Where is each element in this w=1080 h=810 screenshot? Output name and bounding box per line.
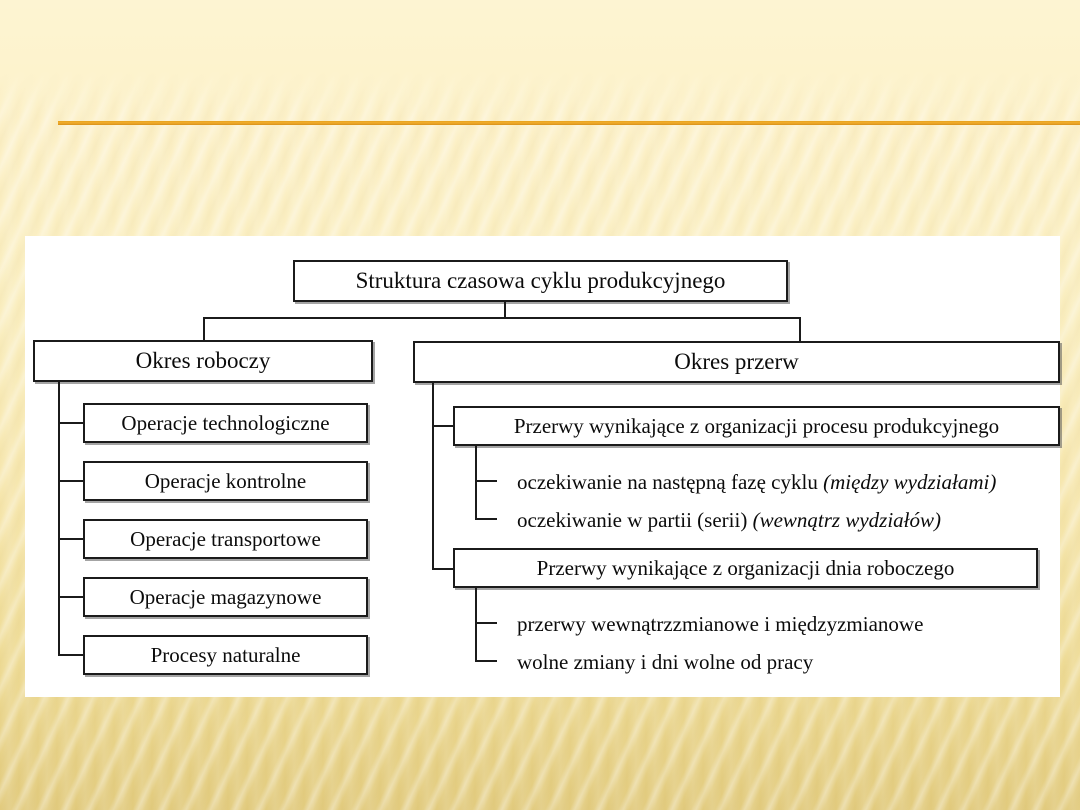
diagram-box-storage-operations: Operacje magazynowe (83, 577, 368, 617)
diagram-subitem-wait-in-batch: oczekiwanie w partii (serii) (wewnątrz w… (517, 510, 941, 531)
connector-level2-right-drop (799, 317, 801, 342)
diagram-box-storage-operations-label: Operacje magazynowe (130, 586, 322, 608)
connector-level2-bar (203, 317, 801, 319)
diagram-subitem-wait-next-phase: oczekiwanie na następną fazę cyklu (międ… (517, 472, 996, 493)
diagram-image-panel: Struktura czasowa cyklu produkcyjnego Ok… (25, 236, 1060, 697)
diagram-box-work-period-label: Okres roboczy (136, 349, 271, 373)
connector-work-stub-3 (58, 538, 85, 540)
diagram-subitem-intershift-breaks-text: przerwy wewnątrzzmianowe i międzyzmianow… (517, 612, 923, 636)
diagram-box-natural-processes: Procesy naturalne (83, 635, 368, 675)
diagram-box-work-period: Okres roboczy (33, 340, 373, 382)
diagram-subitem-wait-in-batch-note: (wewnątrz wydziałów) (753, 508, 941, 532)
diagram-subitem-free-shifts: wolne zmiany i dni wolne od pracy (517, 652, 813, 673)
diagram-box-working-day-breaks-label: Przerwy wynikające z organizacji dnia ro… (537, 557, 955, 579)
connector-substub-a (475, 480, 497, 482)
diagram-subitem-intershift-breaks: przerwy wewnątrzzmianowe i międzyzmianow… (517, 614, 923, 635)
diagram-box-production-process-breaks-label: Przerwy wynikające z organizacji procesu… (514, 415, 999, 437)
diagram-box-break-period-label: Okres przerw (674, 350, 799, 374)
connector-work-stub-2 (58, 480, 85, 482)
connector-root-drop (504, 302, 506, 318)
diagram-subitem-free-shifts-text: wolne zmiany i dni wolne od pracy (517, 650, 813, 674)
connector-substub-c (475, 622, 497, 624)
connector-subrail-group1 (475, 446, 477, 519)
background-top-wash (0, 0, 1080, 118)
connector-substub-b (475, 518, 497, 520)
connector-breaks-stub-2 (432, 568, 455, 570)
diagram-subitem-wait-next-phase-text: oczekiwanie na następną fazę cyklu (517, 470, 823, 494)
connector-level2-left-drop (203, 317, 205, 341)
diagram-box-control-operations: Operacje kontrolne (83, 461, 368, 501)
connector-breaks-rail (432, 383, 434, 570)
diagram-subitem-wait-next-phase-note: (między wydziałami) (823, 470, 996, 494)
diagram-box-root: Struktura czasowa cyklu produkcyjnego (293, 260, 788, 302)
diagram-box-root-label: Struktura czasowa cyklu produkcyjnego (356, 269, 726, 293)
connector-breaks-stub-1 (432, 425, 455, 427)
connector-work-stub-1 (58, 422, 85, 424)
presentation-slide: Struktura czasowa cyklu produkcyjnego Ok… (0, 0, 1080, 810)
connector-work-stub-5 (58, 654, 85, 656)
diagram-box-control-operations-label: Operacje kontrolne (145, 470, 307, 492)
diagram-box-production-process-breaks: Przerwy wynikające z organizacji procesu… (453, 406, 1060, 446)
connector-subrail-group2 (475, 588, 477, 661)
connector-work-stub-4 (58, 596, 85, 598)
diagram-box-technological-operations-label: Operacje technologiczne (121, 412, 329, 434)
title-divider-rule (58, 121, 1080, 125)
diagram-box-technological-operations: Operacje technologiczne (83, 403, 368, 443)
diagram-box-working-day-breaks: Przerwy wynikające z organizacji dnia ro… (453, 548, 1038, 588)
diagram-box-break-period: Okres przerw (413, 341, 1060, 383)
diagram-box-transport-operations: Operacje transportowe (83, 519, 368, 559)
diagram-box-natural-processes-label: Procesy naturalne (151, 644, 301, 666)
diagram-box-transport-operations-label: Operacje transportowe (130, 528, 321, 550)
diagram-subitem-wait-in-batch-text: oczekiwanie w partii (serii) (517, 508, 753, 532)
connector-substub-d (475, 660, 497, 662)
